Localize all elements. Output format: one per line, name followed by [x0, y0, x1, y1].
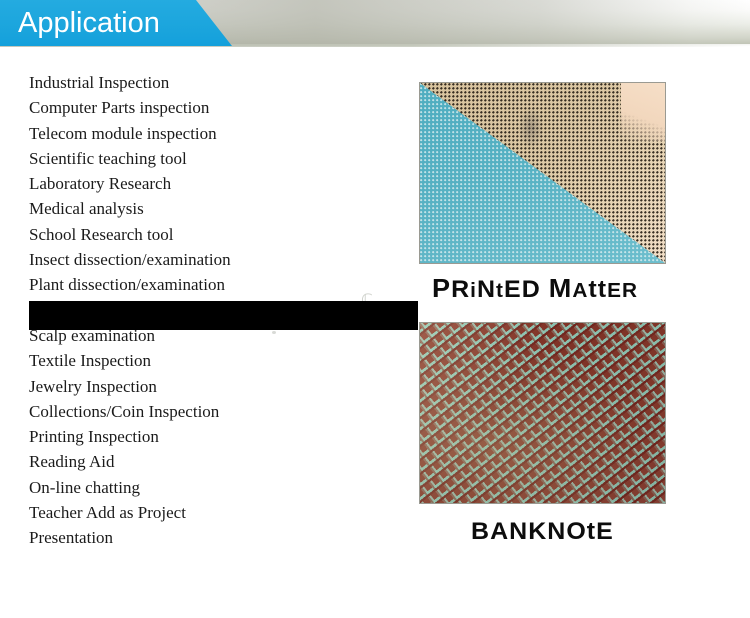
list-item: Laboratory Research: [29, 171, 409, 196]
list-item: Industrial Inspection: [29, 70, 409, 95]
list-item: Jewelry Inspection: [29, 374, 409, 399]
list-item: Printing Inspection: [29, 424, 409, 449]
list-item: Collections/Coin Inspection: [29, 399, 409, 424]
caption-segment: tt: [588, 276, 607, 303]
list-item: Telecom module inspection: [29, 121, 409, 146]
caption-segment: R: [451, 276, 470, 303]
watermark-dot: [272, 331, 276, 334]
caption-segment: M: [549, 273, 573, 303]
halftone-ink-smudge: [518, 107, 544, 149]
list-item: Computer Parts inspection: [29, 95, 409, 120]
list-item: Teacher Add as Project: [29, 500, 409, 525]
list-item: Medical analysis: [29, 196, 409, 221]
sample-photo-banknote: [419, 322, 666, 504]
halftone-warm-highlight: [621, 82, 666, 141]
caption-segment: ER: [607, 280, 638, 302]
list-item: Textile Inspection: [29, 348, 409, 373]
slide-header: Application: [0, 0, 750, 52]
caption-segment: ED: [504, 276, 541, 303]
caption-segment: N: [477, 276, 496, 303]
sample-photo-printed-matter: [419, 82, 666, 264]
banknote-sheen: [420, 323, 665, 503]
page-title: Application: [18, 3, 160, 43]
caption-printed-matter: PRiNtED MAttER: [432, 275, 638, 304]
list-item: Presentation: [29, 525, 409, 550]
caption-segment: P: [432, 273, 451, 303]
list-item: Insect dissection/examination: [29, 247, 409, 272]
caption-segment: A: [572, 280, 588, 302]
list-item: Plant dissection/examination: [29, 272, 409, 297]
redaction-bar: [29, 301, 418, 330]
list-item: On-line chatting: [29, 475, 409, 500]
list-item: School Research tool: [29, 222, 409, 247]
caption-banknote: BANKNOtE: [471, 519, 614, 545]
list-item: Scientific teaching tool: [29, 146, 409, 171]
list-item: Reading Aid: [29, 449, 409, 474]
